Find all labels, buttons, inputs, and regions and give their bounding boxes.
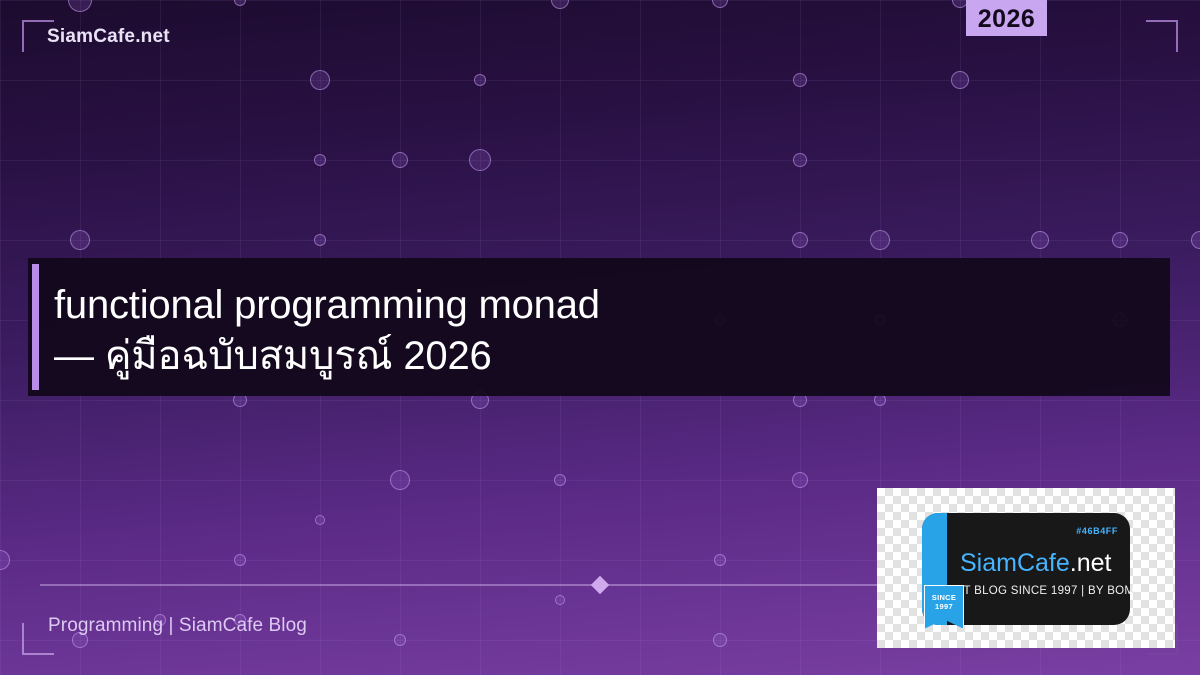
background-node xyxy=(469,149,491,171)
background-node xyxy=(551,0,569,9)
background-node xyxy=(870,230,890,250)
site-name: SiamCafe.net xyxy=(47,26,170,48)
background-node xyxy=(0,550,10,570)
background-node xyxy=(310,70,330,90)
divider-diamond-icon xyxy=(591,576,609,594)
background-node xyxy=(390,470,410,490)
background-node xyxy=(234,554,246,566)
background-node xyxy=(951,71,969,89)
background-node xyxy=(793,153,807,167)
logo-brand-primary: SiamCafe xyxy=(960,549,1070,577)
background-node xyxy=(555,595,565,605)
corner-bracket-top-right-icon xyxy=(1146,20,1178,52)
background-node xyxy=(713,633,727,647)
page-title: functional programming monad — คู่มือฉบั… xyxy=(54,280,1144,382)
logo-tagline: IT BLOG SINCE 1997 | BY BOM xyxy=(960,585,1134,597)
background-node xyxy=(392,152,408,168)
background-node xyxy=(70,230,90,250)
background-node xyxy=(793,73,807,87)
title-accent-bar xyxy=(32,264,39,390)
background-node xyxy=(1031,231,1049,249)
background-node xyxy=(314,234,326,246)
background-node xyxy=(474,74,486,86)
background-node xyxy=(554,474,566,486)
background-node xyxy=(1191,231,1200,249)
logo-brand-secondary: .net xyxy=(1070,549,1112,577)
logo-brand-text: SiamCafe.net xyxy=(960,549,1111,578)
background-node xyxy=(314,154,326,166)
logo-inner-panel: #46B4FF SiamCafe.net IT BLOG SINCE 1997 … xyxy=(922,513,1130,625)
title-panel: functional programming monad — คู่มือฉบั… xyxy=(28,258,1170,396)
background-node xyxy=(1112,232,1128,248)
background-node xyxy=(315,515,325,525)
background-node xyxy=(792,232,808,248)
since-ribbon-line-2: 1997 xyxy=(925,602,963,611)
background-node xyxy=(714,554,726,566)
year-badge: 2026 xyxy=(966,0,1047,36)
breadcrumb: Programming | SiamCafe Blog xyxy=(48,615,307,637)
page-title-line-1: functional programming monad xyxy=(54,283,600,327)
background-node xyxy=(234,0,246,6)
background-node xyxy=(68,0,92,12)
since-ribbon-line-1: SINCE xyxy=(925,593,963,602)
background-node xyxy=(712,0,728,8)
background-node xyxy=(394,634,406,646)
page-title-line-2: — คู่มือฉบับสมบูรณ์ 2026 xyxy=(54,331,1144,382)
logo-card: #46B4FF SiamCafe.net IT BLOG SINCE 1997 … xyxy=(877,488,1175,648)
background-node xyxy=(792,472,808,488)
hero-banner: SiamCafe.net 2026 functional programming… xyxy=(0,0,1200,675)
logo-hex-label: #46B4FF xyxy=(1076,526,1118,536)
